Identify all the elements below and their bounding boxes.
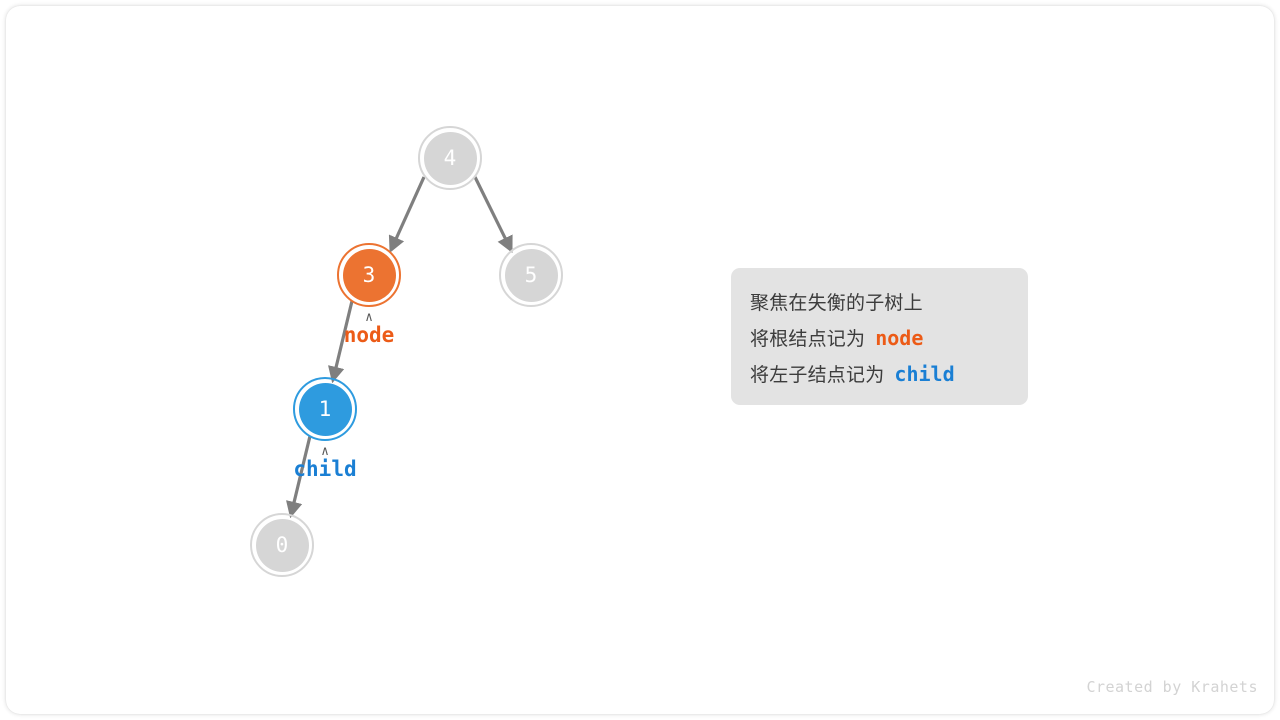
pointer-label-node: ∧ node [269, 313, 469, 347]
pointer-text: child [293, 458, 356, 481]
caption-line-3: 将左子结点记为 child [750, 360, 1028, 396]
caption-text: 聚焦在失衡的子树上 [750, 288, 923, 315]
tree-node-5[interactable]: 5 [499, 243, 563, 307]
node-value: 5 [525, 265, 538, 286]
node-value: 4 [444, 148, 457, 169]
caption-line-2: 将根结点记为 node [750, 324, 1028, 360]
watermark-credit: Created by Krahets [1086, 678, 1258, 696]
tree-node-3-highlighted-node[interactable]: 3 [337, 243, 401, 307]
edge-4-3 [391, 177, 424, 250]
tree-node-1-highlighted-child[interactable]: 1 [293, 377, 357, 441]
pointer-text: node [344, 324, 395, 347]
node-value: 3 [363, 265, 376, 286]
node-value: 1 [319, 399, 332, 420]
caption-code-node: node [875, 326, 923, 350]
caption-text: 将左子结点记为 [750, 360, 884, 387]
pointer-label-child: ∧ child [225, 447, 425, 481]
node-value: 0 [276, 535, 289, 556]
tree-node-4[interactable]: 4 [418, 126, 482, 190]
diagram-canvas: 4 3 5 1 0 ∧ node ∧ child 聚焦在失衡的子树上 将根结点 [0, 0, 1280, 720]
caption-text: 将根结点记为 [750, 324, 865, 351]
tree-edges-layer [0, 0, 1280, 720]
caption-line-1: 聚焦在失衡的子树上 [750, 288, 1028, 324]
caption-box: 聚焦在失衡的子树上 将根结点记为 node 将左子结点记为 child [731, 268, 1028, 405]
caption-code-child: child [894, 362, 954, 386]
tree-node-0[interactable]: 0 [250, 513, 314, 577]
edge-4-5 [475, 177, 511, 250]
